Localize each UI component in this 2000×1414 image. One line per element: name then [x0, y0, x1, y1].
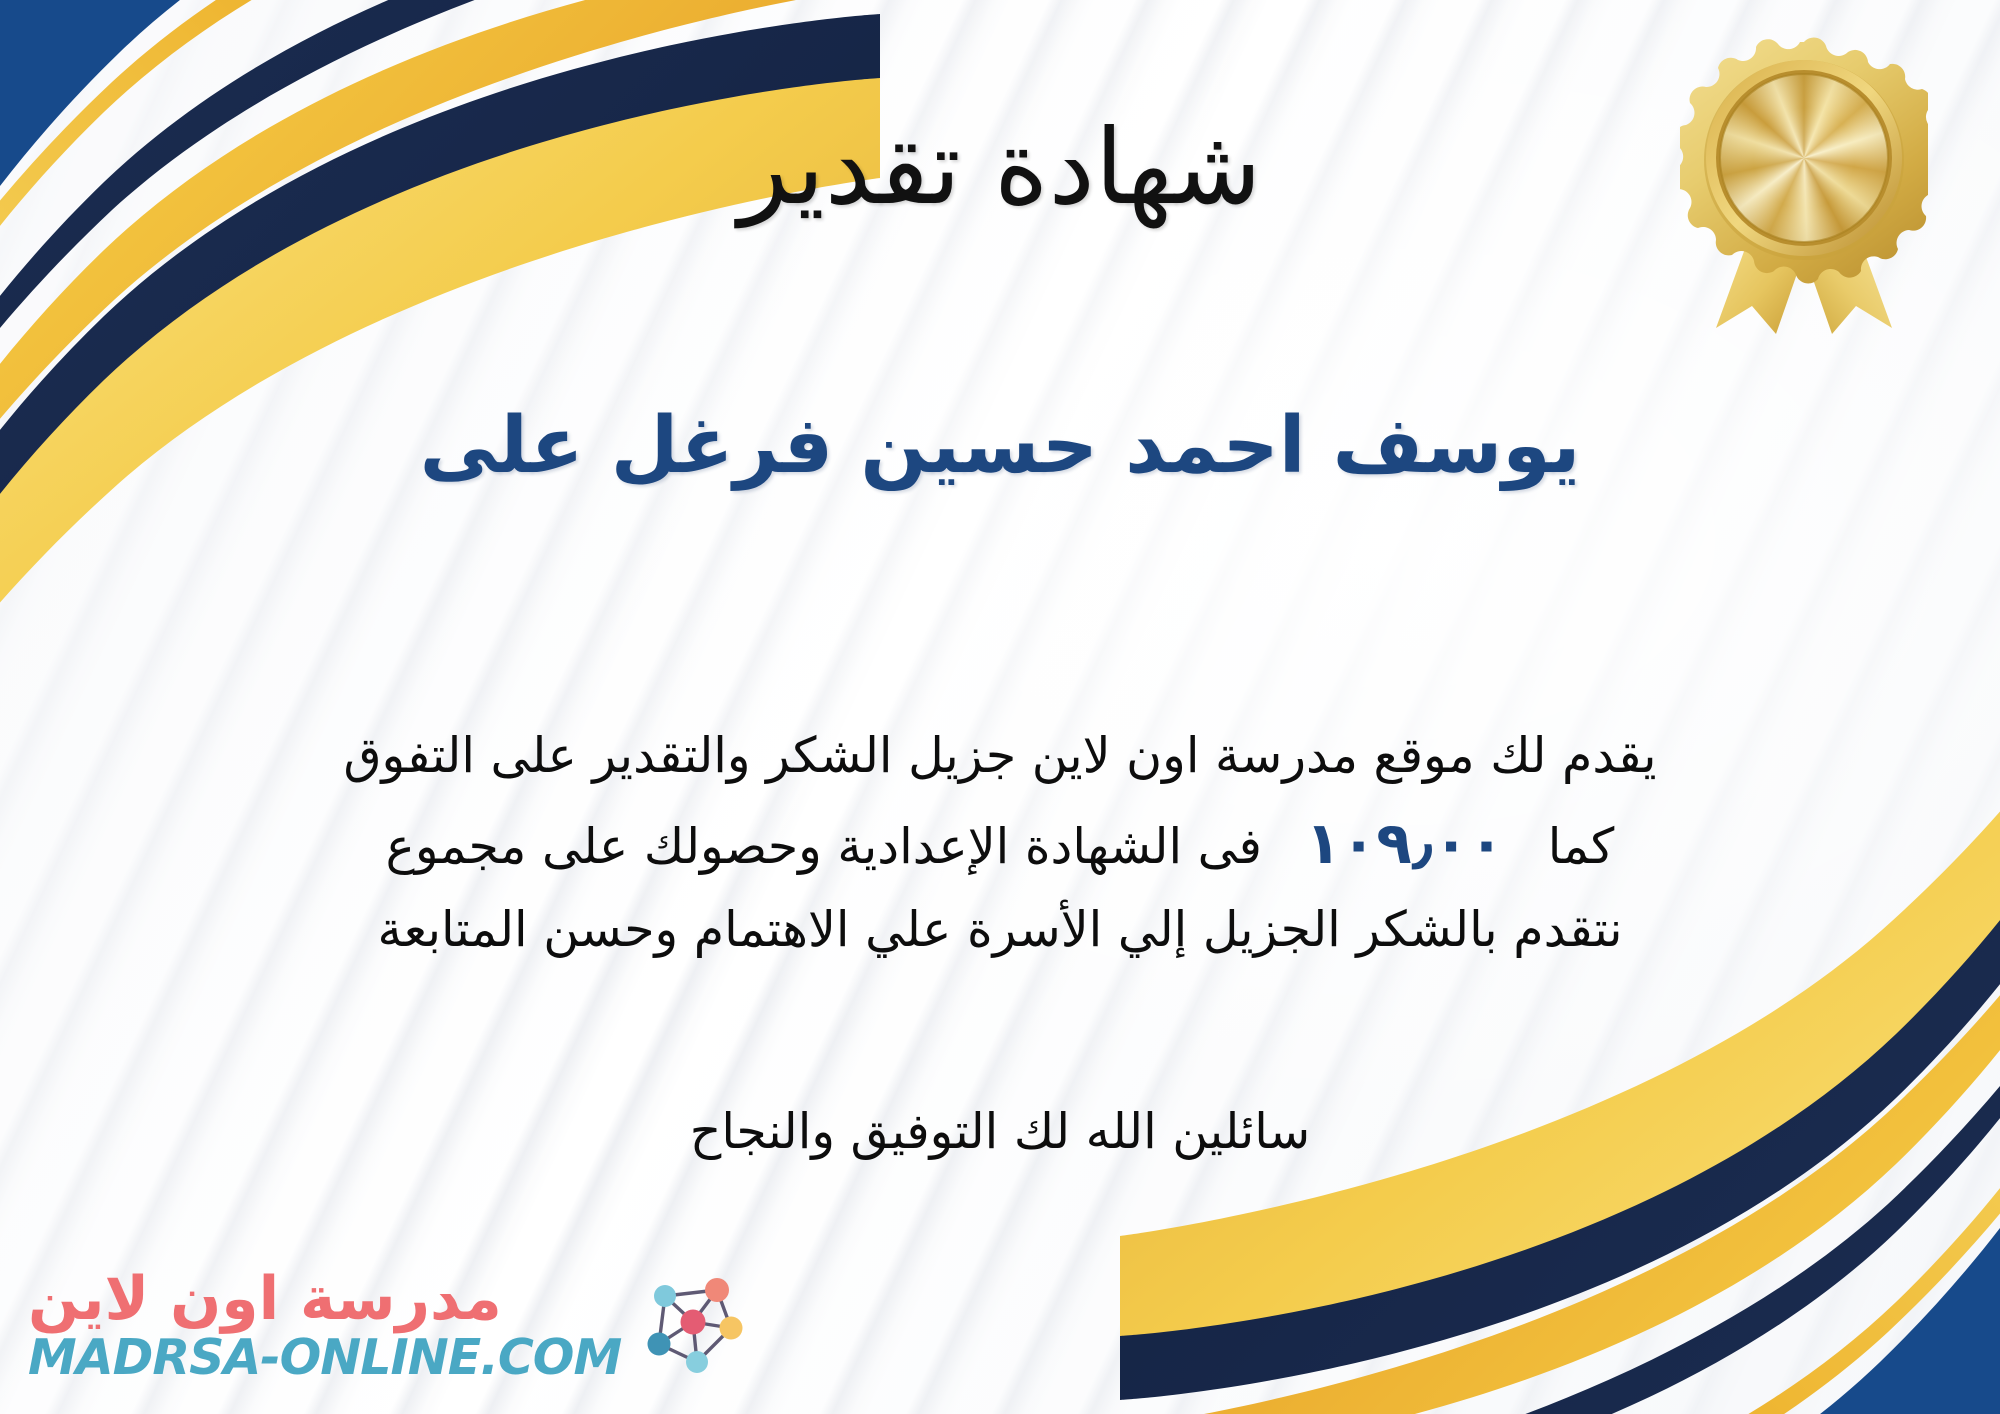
- certificate-canvas: شهادة تقدير يوسف احمد حسين فرغل على يقدم…: [0, 0, 2000, 1414]
- logo-wordmark: مدرسة اون لاين MADRSA-ONLINE.COM: [28, 1269, 621, 1382]
- site-logo[interactable]: مدرسة اون لاين MADRSA-ONLINE.COM: [28, 1266, 749, 1384]
- logo-arabic-text: مدرسة اون لاين: [28, 1269, 502, 1329]
- body-line-2-suffix: كما: [1548, 818, 1615, 875]
- recipient-name: يوسف احمد حسين فرغل على: [0, 400, 2000, 494]
- body-line-2-prefix: فى الشهادة الإعدادية وحصولك على مجموع: [386, 818, 1262, 875]
- closing-line: سائلين الله لك التوفيق والنجاح: [0, 1098, 2000, 1167]
- score-value: ١٠٩٫٠٠: [1278, 809, 1533, 877]
- certificate-content: شهادة تقدير يوسف احمد حسين فرغل على يقدم…: [0, 0, 2000, 1414]
- certificate-body: يقدم لك موقع مدرسة اون لاين جزيل الشكر و…: [60, 720, 1940, 975]
- logo-domain-text: MADRSA-ONLINE.COM: [28, 1333, 621, 1382]
- body-line-1: يقدم لك موقع مدرسة اون لاين جزيل الشكر و…: [60, 720, 1940, 793]
- certificate-title: شهادة تقدير: [0, 110, 2000, 224]
- body-line-3: نتقدم بالشكر الجزيل إلي الأسرة علي الاهت…: [60, 894, 1940, 967]
- network-nodes-icon: [631, 1266, 749, 1384]
- body-line-2: كما ١٠٩٫٠٠ فى الشهادة الإعدادية وحصولك ع…: [60, 801, 1940, 887]
